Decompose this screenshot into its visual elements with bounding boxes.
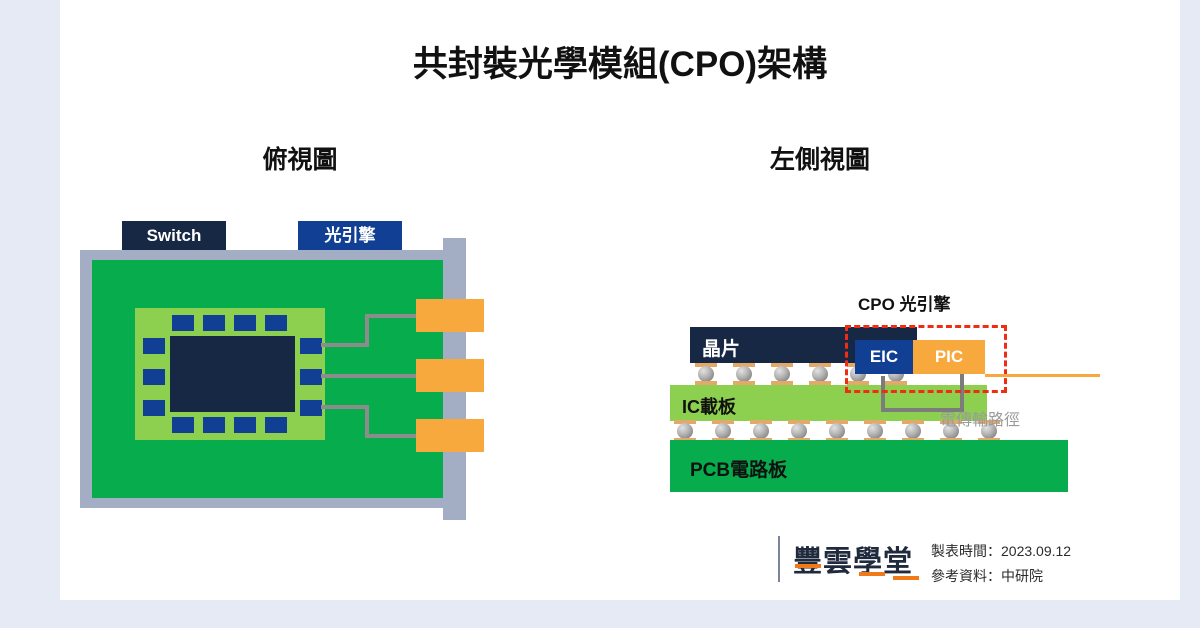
footer-source-key: 參考資料： [931,568,1001,584]
footer-source: 參考資料：中研院 [931,566,1043,586]
footer-timestamp-key: 製表時間： [931,543,1001,559]
brand-logo: 豐雲學堂 [793,538,913,580]
footer-source-value: 中研院 [1001,568,1043,584]
logo-accent-bar [795,564,821,568]
logo-accent-bar [859,572,885,576]
footer-timestamp: 製表時間：2023.09.12 [931,541,1071,561]
footer-timestamp-value: 2023.09.12 [1001,543,1071,559]
footer: 豐雲學堂 製表時間：2023.09.12 參考資料：中研院 [60,0,1180,600]
footer-divider [778,536,780,582]
brand-logo-text: 豐雲學堂 [793,546,913,578]
slide-card: 共封裝光學模組(CPO)架構 俯視圖 Switch 光引擎 [60,0,1180,600]
logo-accent-bar [893,576,919,580]
